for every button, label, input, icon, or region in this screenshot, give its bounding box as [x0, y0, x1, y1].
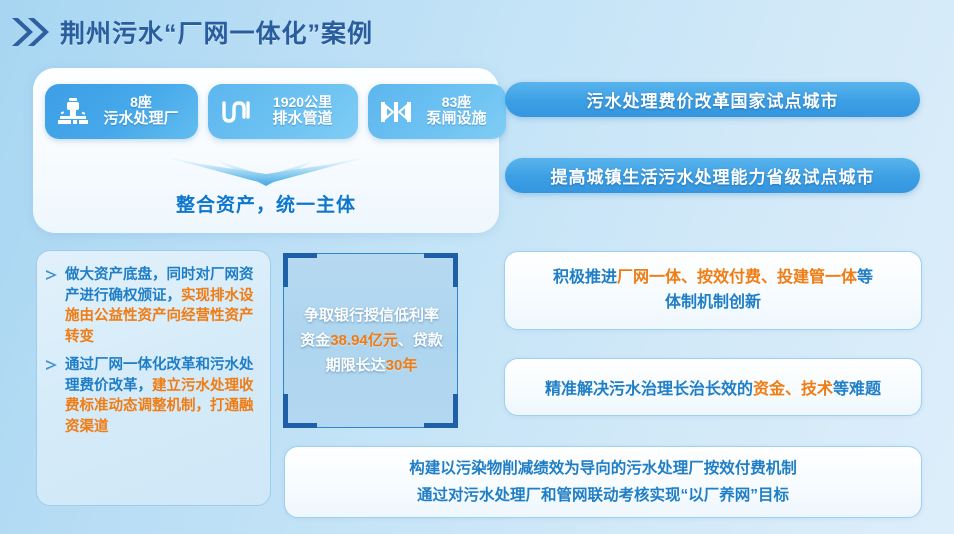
performance-payment-box[interactable]: 构建以污染物削减绩效为导向的污水处理厂按效付费机制通过对污水处理厂和管网联动考核…	[284, 446, 922, 518]
stat-label: 污水处理厂	[97, 111, 185, 128]
corner-accent	[453, 394, 458, 428]
arrow-down-icon	[161, 154, 371, 188]
text-plain: 精准解决污水治理长治长效的	[545, 381, 753, 398]
slide-header: 荆州污水“厂网一体化”案例	[0, 6, 954, 58]
double-chevron-right-icon	[8, 15, 52, 49]
text-plain: 体制机制创新	[665, 294, 761, 311]
stat-pill-drainage-pipe[interactable]: 1920公里 排水管道	[208, 84, 358, 139]
page-title: 荆州污水“厂网一体化”案例	[60, 14, 373, 50]
corner-accent	[283, 253, 288, 287]
payment-line-2: 通过对污水处理厂和管网联动考核实现“以厂养网”目标	[417, 487, 789, 504]
funding-technology-box[interactable]: 精准解决污水治理长治长效的资金、技术等难题	[504, 358, 922, 416]
credit-line-2b: 、贷款	[398, 332, 443, 349]
stat-count: 83座	[420, 95, 493, 111]
credit-term: 30年	[386, 357, 418, 374]
stat-pill-pump-gate[interactable]: 83座 泵闸设施	[368, 84, 506, 139]
credit-line-2a: 资金	[300, 332, 330, 349]
payment-line-1: 构建以污染物削减绩效为导向的污水处理厂按效付费机制	[409, 460, 797, 477]
text-plain: 积极推进	[553, 269, 617, 286]
slide-root: 荆州污水“厂网一体化”案例	[0, 0, 954, 534]
banner-national-pilot-city[interactable]: 污水处理费价改革国家试点城市	[505, 82, 920, 117]
infobox-text: 精准解决污水治理长治长效的资金、技术等难题	[545, 375, 881, 399]
stat-label: 泵闸设施	[420, 111, 493, 128]
list-item: 通过厂网一体化改革和污水处理费价改革，建立污水处理收费标准动态调整机制，打通融资…	[45, 355, 260, 437]
credit-amount: 38.94亿元	[330, 332, 398, 349]
corner-accent	[283, 394, 288, 428]
pipe-serpentine-icon	[217, 93, 255, 131]
credit-line-3: 期限长达	[326, 357, 386, 374]
mechanism-innovation-box[interactable]: 积极推进厂网一体、按效付费、投建管一体等体制机制创新	[504, 251, 922, 330]
asset-stat-pills: 8座 污水处理厂 1920公里 排水管道	[45, 84, 506, 139]
text-highlight: 厂网一体、按效付费、投建管一体	[617, 269, 857, 286]
stat-pill-text: 8座 污水处理厂	[97, 95, 185, 127]
reform-measures-box: 做大资产底盘，同时对厂网资产进行确权颁证，实现排水设施由公益性资产向经营性资产转…	[36, 250, 271, 506]
asset-summary-card: 8座 污水处理厂 1920公里 排水管道	[33, 68, 499, 233]
bank-credit-text: 争取银行授信低利率 资金38.94亿元、贷款 期限长达30年	[284, 304, 459, 378]
stat-count: 1920公里	[260, 95, 345, 111]
bullet-text: 通过厂网一体化改革和污水处理费价改革，建立污水处理收费标准动态调整机制，打通融资…	[65, 355, 260, 437]
stat-label: 排水管道	[260, 111, 345, 128]
list-item: 做大资产底盘，同时对厂网资产进行确权颁证，实现排水设施由公益性资产向经营性资产转…	[45, 265, 260, 347]
text-highlight: 资金、技术	[753, 381, 833, 398]
stat-pill-text: 83座 泵闸设施	[420, 95, 493, 127]
text-plain: 等	[857, 269, 873, 286]
stat-pill-text: 1920公里 排水管道	[260, 95, 345, 127]
stat-pill-wastewater-plant[interactable]: 8座 污水处理厂	[45, 84, 198, 139]
banner-label: 污水处理费价改革国家试点城市	[587, 87, 839, 112]
stat-count: 8座	[97, 95, 185, 111]
pump-gate-valve-icon	[377, 93, 415, 131]
credit-line-1: 争取银行授信低利率	[304, 307, 439, 324]
merge-assets-text: 整合资产，统一主体	[33, 190, 499, 217]
infobox-text: 积极推进厂网一体、按效付费、投建管一体等体制机制创新	[553, 266, 873, 316]
corner-accent	[283, 423, 317, 428]
banner-label: 提高城镇生活污水处理能力省级试点城市	[551, 163, 875, 188]
corner-accent	[453, 253, 458, 287]
bank-credit-box: 争取银行授信低利率 资金38.94亿元、贷款 期限长达30年	[283, 253, 458, 428]
infobox-text: 构建以污染物削减绩效为导向的污水处理厂按效付费机制通过对污水处理厂和管网联动考核…	[409, 455, 797, 509]
banner-provincial-pilot-city[interactable]: 提高城镇生活污水处理能力省级试点城市	[505, 158, 920, 193]
corner-accent	[283, 253, 317, 258]
arrow-bullet-icon	[45, 265, 65, 347]
wastewater-plant-icon	[54, 93, 92, 131]
text-plain: 等难题	[833, 381, 881, 398]
bullet-text: 做大资产底盘，同时对厂网资产进行确权颁证，实现排水设施由公益性资产向经营性资产转…	[65, 265, 260, 347]
arrow-bullet-icon	[45, 355, 65, 437]
